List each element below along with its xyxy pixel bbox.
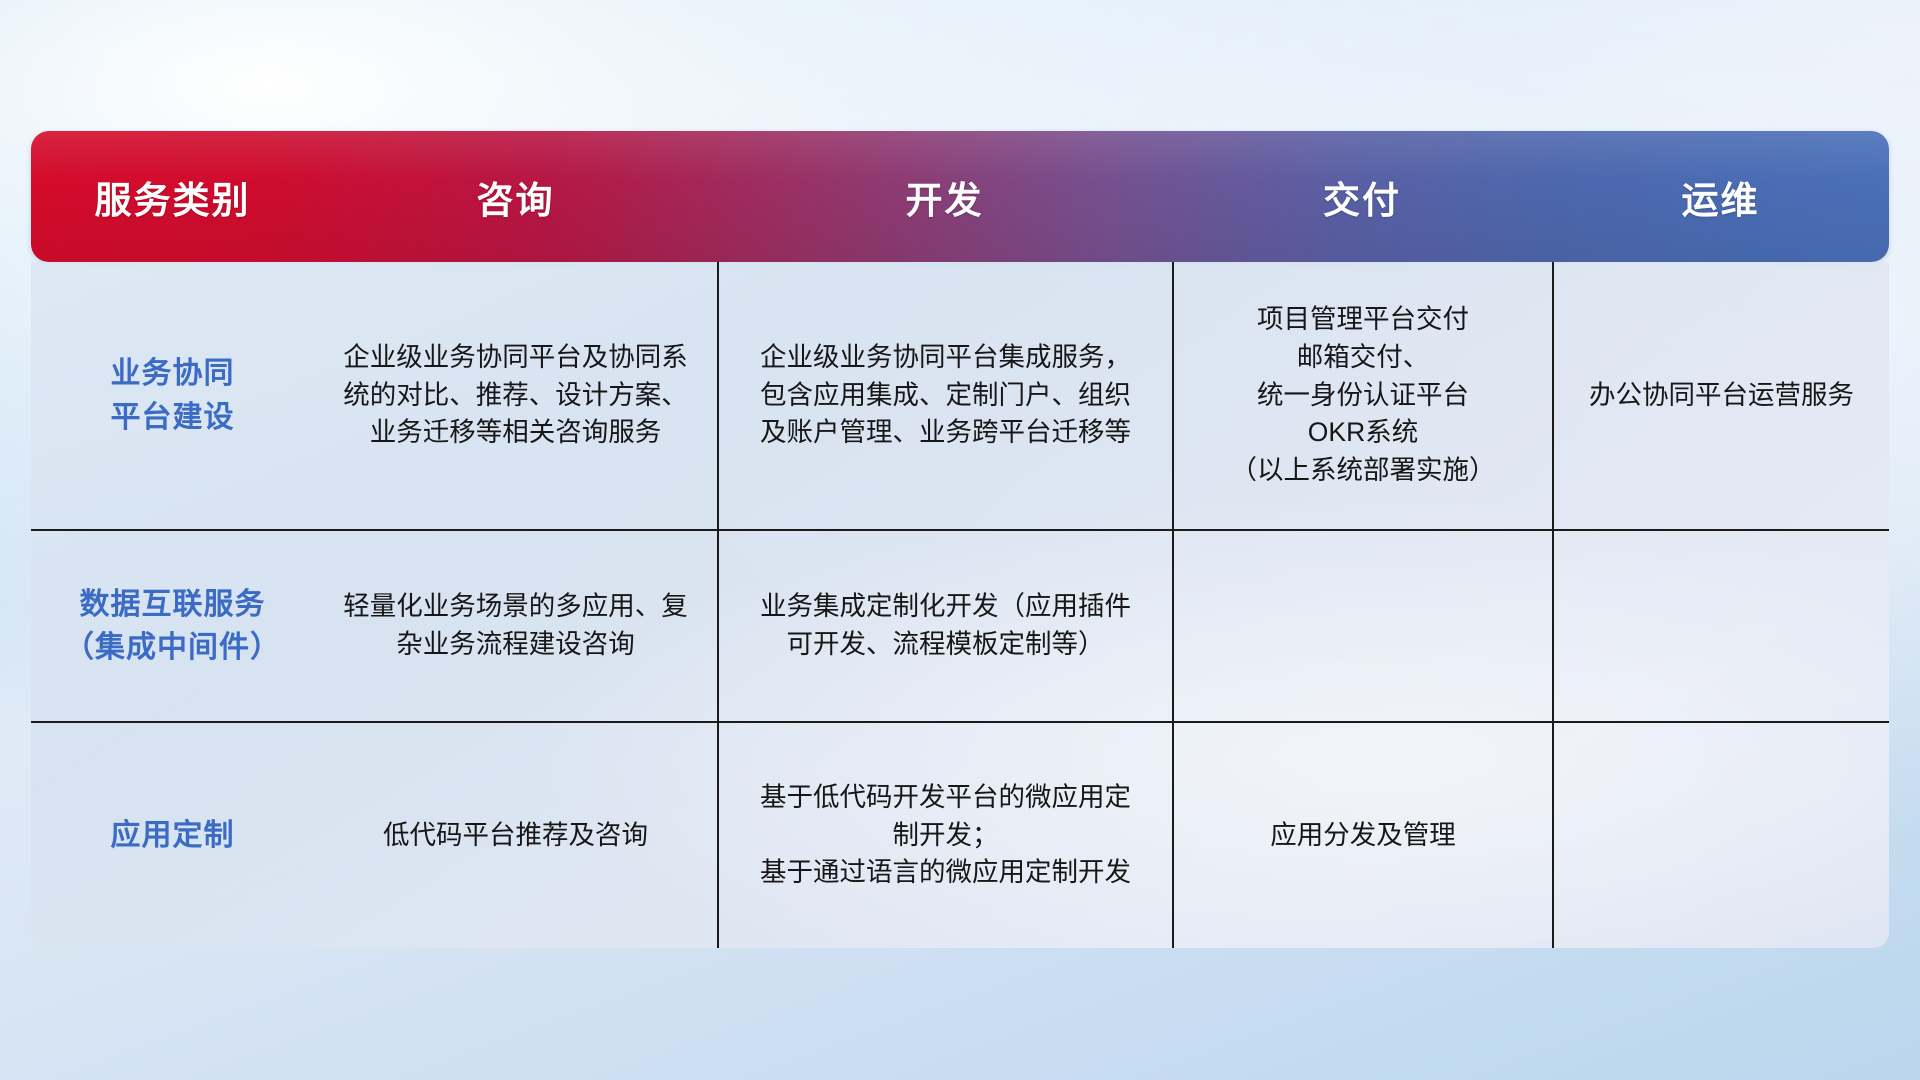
row-category-cell: 业务协同 平台建设 [31,262,314,529]
cell-operations [1552,531,1889,721]
table-header-row: 服务类别 咨询 开发 交付 运维 [31,131,1889,262]
cell-development-text: 基于低代码开发平台的微应用定 制开发； 基于通过语言的微应用定制开发 [760,779,1131,892]
column-header-category: 服务类别 [31,170,314,224]
cell-development-text: 业务集成定制化开发（应用插件 可开发、流程模板定制等） [760,588,1131,663]
row-category-cell: 应用定制 [31,723,314,948]
cell-consulting: 轻量化业务场景的多应用、复 杂业务流程建设咨询 [314,531,717,721]
column-header-development: 开发 [717,170,1172,224]
cell-consulting: 企业级业务协同平台及协同系 统的对比、推荐、设计方案、 业务迁移等相关咨询服务 [314,262,717,529]
cell-consulting: 低代码平台推荐及咨询 [314,723,717,948]
cell-consulting-text: 低代码平台推荐及咨询 [383,817,648,855]
column-header-operations: 运维 [1552,170,1889,224]
row-category-label: 业务协同 平台建设 [111,352,235,439]
cell-operations [1552,723,1889,948]
cell-development: 基于低代码开发平台的微应用定 制开发； 基于通过语言的微应用定制开发 [717,723,1172,948]
cell-development: 业务集成定制化开发（应用插件 可开发、流程模板定制等） [717,531,1172,721]
cell-development-text: 企业级业务协同平台集成服务， 包含应用集成、定制门户、组织 及账户管理、业务跨平… [760,339,1131,452]
table-row: 业务协同 平台建设 企业级业务协同平台及协同系 统的对比、推荐、设计方案、 业务… [31,262,1889,529]
row-category-label: 应用定制 [111,814,235,858]
column-header-delivery: 交付 [1172,170,1552,224]
service-matrix-table: 服务类别 咨询 开发 交付 运维 业务协同 平台建设 企业级业务协同平台及协同系… [31,131,1889,948]
cell-operations-text: 办公协同平台运营服务 [1589,377,1854,415]
cell-delivery [1172,531,1552,721]
table-row: 应用定制 低代码平台推荐及咨询 基于低代码开发平台的微应用定 制开发； 基于通过… [31,721,1889,948]
cell-delivery-text: 应用分发及管理 [1270,817,1456,855]
cell-consulting-text: 轻量化业务场景的多应用、复 杂业务流程建设咨询 [343,588,688,663]
table-body: 业务协同 平台建设 企业级业务协同平台及协同系 统的对比、推荐、设计方案、 业务… [31,262,1889,948]
cell-development: 企业级业务协同平台集成服务， 包含应用集成、定制门户、组织 及账户管理、业务跨平… [717,262,1172,529]
cell-delivery-text: 项目管理平台交付 邮箱交付、 统一身份认证平台 OKR系统 （以上系统部署实施） [1231,301,1496,489]
cell-delivery: 应用分发及管理 [1172,723,1552,948]
cell-operations: 办公协同平台运营服务 [1552,262,1889,529]
cell-consulting-text: 企业级业务协同平台及协同系 统的对比、推荐、设计方案、 业务迁移等相关咨询服务 [343,339,688,452]
column-header-consulting: 咨询 [314,170,717,224]
row-category-cell: 数据互联服务 （集成中间件） [31,531,314,721]
row-category-label: 数据互联服务 （集成中间件） [64,583,281,670]
cell-delivery: 项目管理平台交付 邮箱交付、 统一身份认证平台 OKR系统 （以上系统部署实施） [1172,262,1552,529]
table-row: 数据互联服务 （集成中间件） 轻量化业务场景的多应用、复 杂业务流程建设咨询 业… [31,529,1889,721]
